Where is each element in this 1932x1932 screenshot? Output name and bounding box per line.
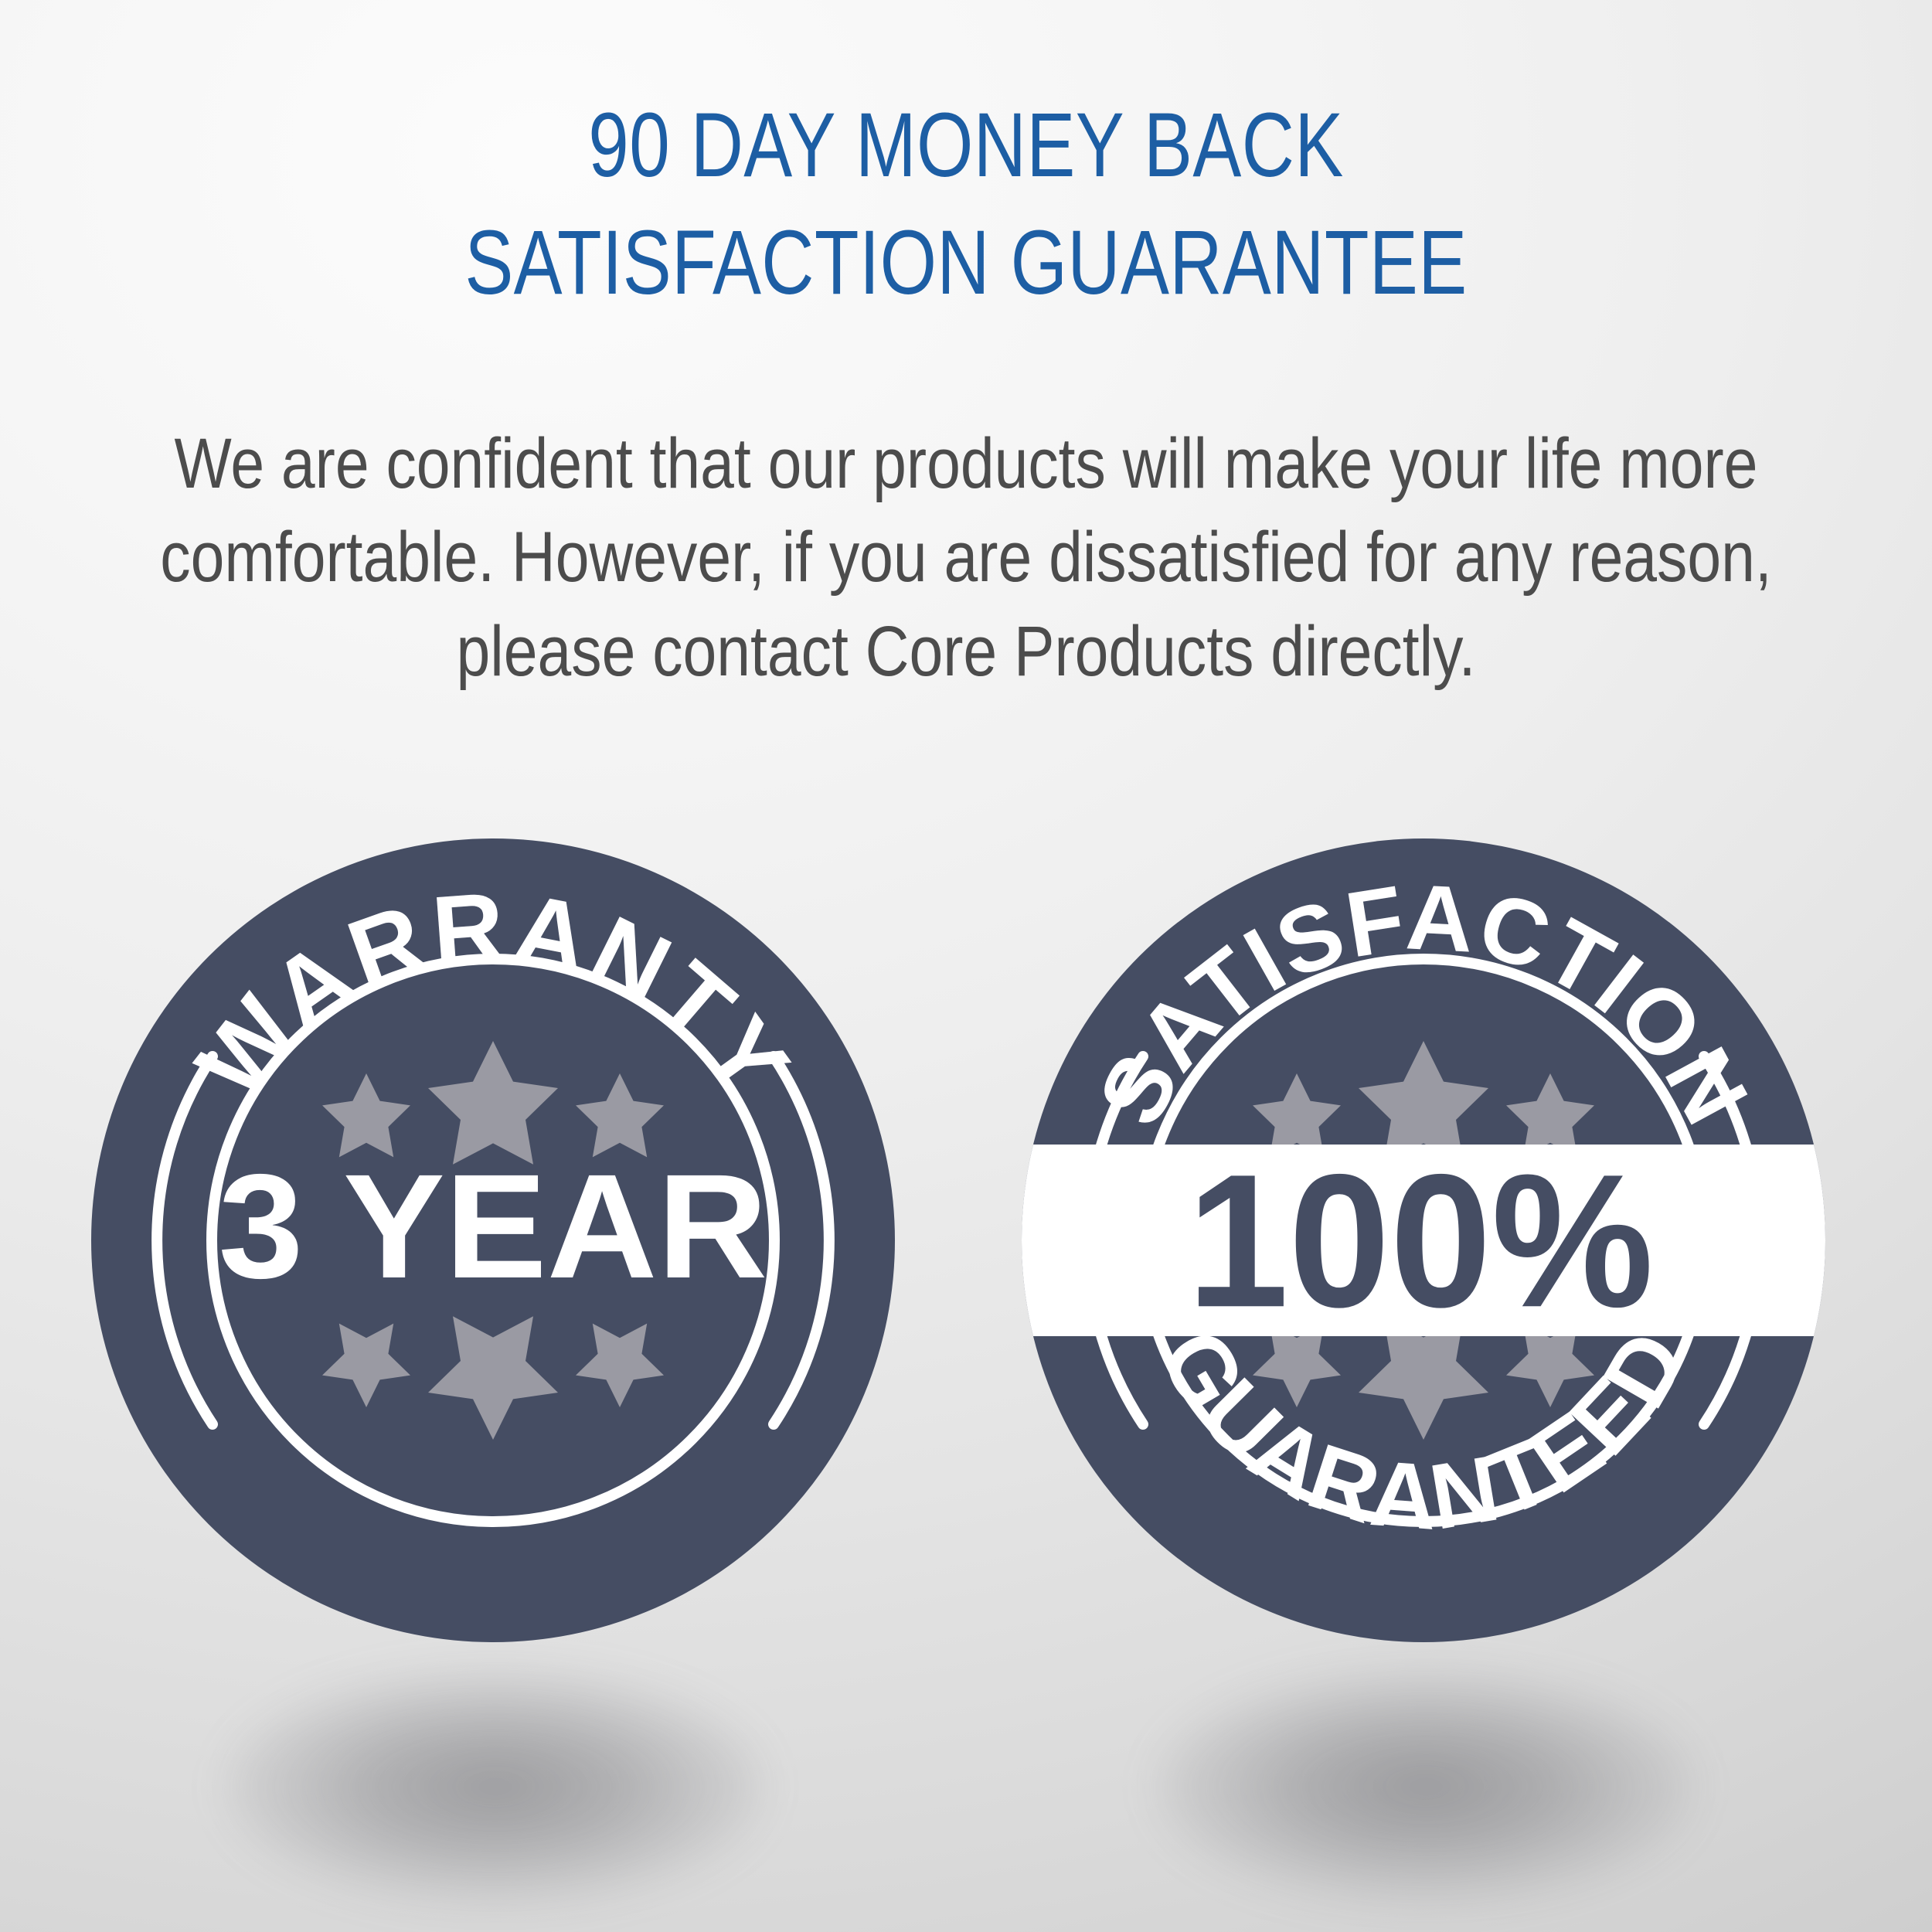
guarantee-description: We are confident that our products will … [140,417,1792,699]
warranty-badge: WARRANTY 3 YEAR [91,838,895,1642]
body-line-2: comfortable. However, if you are dissati… [160,518,1771,597]
body-line-1: We are confident that our products will … [174,424,1757,503]
warranty-badge-shadow [229,1671,762,1903]
satisfaction-badge: 100% SATISFACTION GUARANTEED [1022,838,1825,1642]
page-title: 90 DAY MONEY BACK SATISFACTION GUARANTEE [193,87,1739,321]
warranty-center-text: 3 YEAR [219,1145,768,1310]
guarantee-poster: 90 DAY MONEY BACK SATISFACTION GUARANTEE… [0,0,1932,1932]
body-line-3: please contact Core Products directly. [457,612,1476,691]
satisfaction-band-text: 100% [1187,1135,1654,1347]
satisfaction-badge-shadow [1159,1671,1692,1903]
headline-line-2: SATISFACTION GUARANTEE [464,212,1467,314]
headline-line-1: 90 DAY MONEY BACK [588,94,1343,196]
